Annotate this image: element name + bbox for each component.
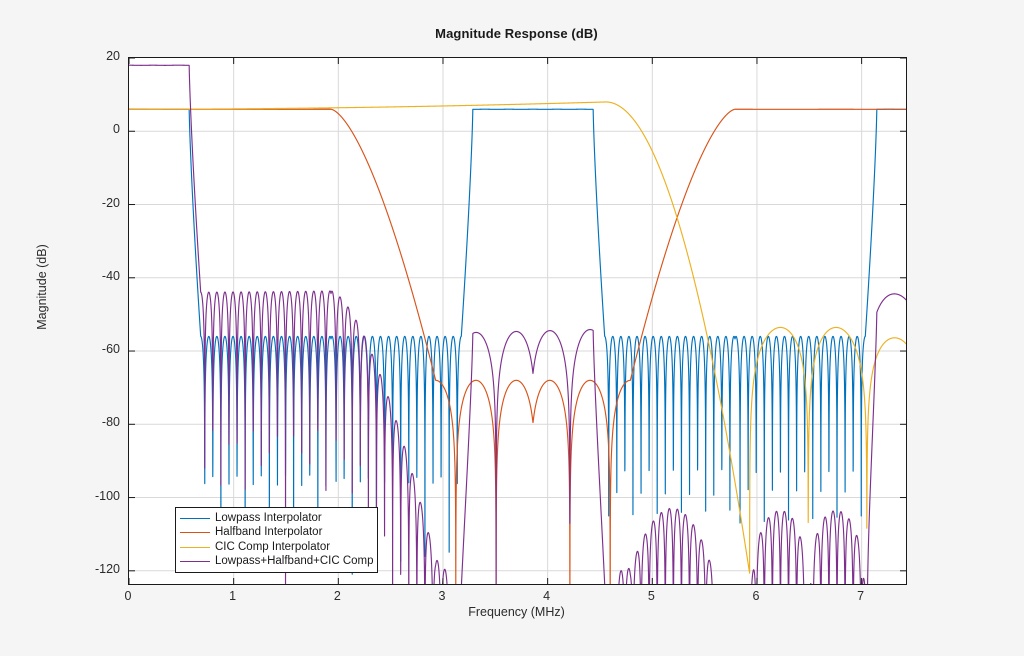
legend-item[interactable]: Lowpass Interpolator (180, 511, 372, 526)
figure-canvas: Magnitude Response (dB) Frequency (MHz) … (0, 0, 1024, 656)
x-tick-label: 6 (736, 589, 776, 603)
legend-item-label: Lowpass+Halfband+CIC Comp (215, 555, 374, 568)
plot-axes (128, 57, 907, 585)
x-tick-label: 0 (108, 589, 148, 603)
y-tick-label: 0 (68, 122, 120, 136)
x-tick-label: 7 (841, 589, 881, 603)
y-tick-label: -20 (68, 196, 120, 210)
y-tick-label: -80 (68, 415, 120, 429)
x-tick-label: 1 (213, 589, 253, 603)
y-tick-label: 20 (68, 49, 120, 63)
legend-color-swatch (180, 547, 210, 548)
plot-svg (129, 58, 906, 584)
y-axis-label: Magnitude (dB) (35, 207, 49, 367)
legend-item[interactable]: Lowpass+Halfband+CIC Comp (180, 555, 372, 570)
legend-color-swatch (180, 561, 210, 562)
legend-color-swatch (180, 532, 210, 533)
y-tick-label: -100 (68, 489, 120, 503)
y-tick-label: -60 (68, 342, 120, 356)
chart-legend: Lowpass Interpolator Halfband Interpolat… (175, 507, 378, 573)
x-tick-label: 4 (527, 589, 567, 603)
legend-item[interactable]: CIC Comp Interpolator (180, 540, 372, 555)
legend-item[interactable]: Halfband Interpolator (180, 526, 372, 541)
page-title: Magnitude Response (dB) (128, 26, 905, 41)
legend-item-label: Halfband Interpolator (215, 526, 322, 539)
legend-item-label: CIC Comp Interpolator (215, 541, 330, 554)
x-tick-label: 2 (317, 589, 357, 603)
x-tick-label: 3 (422, 589, 462, 603)
x-axis-label: Frequency (MHz) (128, 605, 905, 619)
legend-color-swatch (180, 518, 210, 519)
legend-item-label: Lowpass Interpolator (215, 512, 322, 525)
x-tick-label: 5 (631, 589, 671, 603)
y-tick-label: -40 (68, 269, 120, 283)
y-tick-label: -120 (68, 562, 120, 576)
